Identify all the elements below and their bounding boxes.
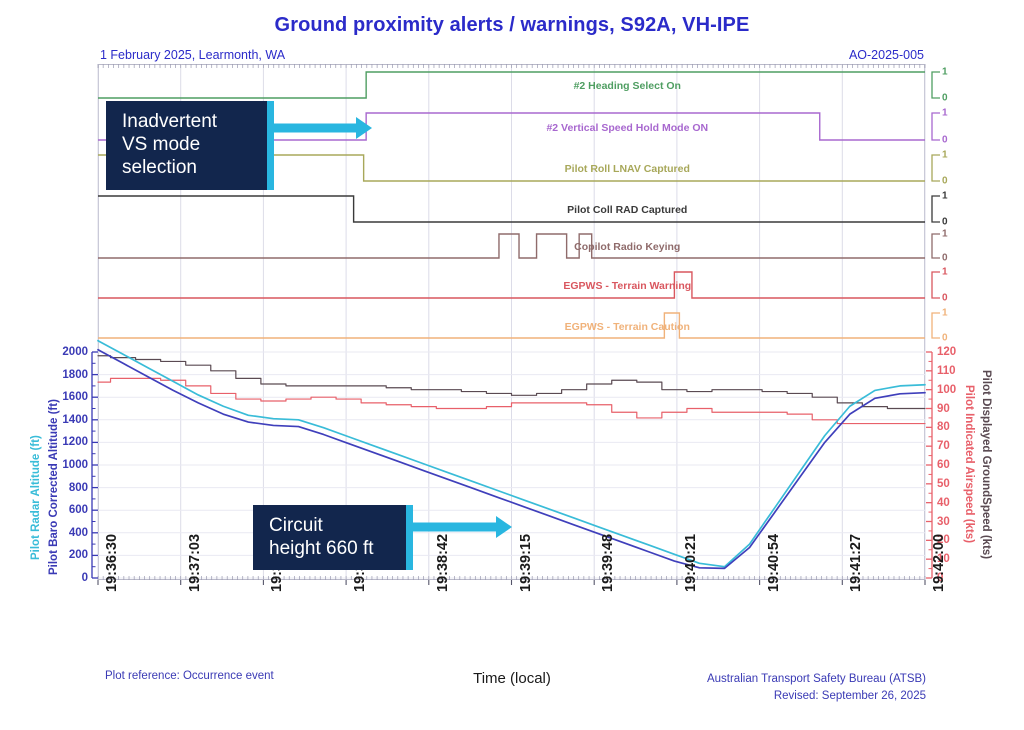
left-axis-title-radar-altitude: Pilot Radar Altitude (ft) xyxy=(30,435,42,560)
signal-label-5: EGPWS - Terrain Warning xyxy=(563,280,691,292)
signal-5-tick-1: 1 xyxy=(942,267,948,278)
vs-mode-callout-edge xyxy=(267,101,274,190)
x-axis-tick-7: 19:40:21 xyxy=(683,534,699,592)
x-axis-tick-5: 19:39:15 xyxy=(518,534,534,592)
signal-6-tick-0: 0 xyxy=(942,333,948,344)
signal-3-tick-0: 0 xyxy=(942,217,948,228)
left-axis-tick-200: 200 xyxy=(69,549,88,561)
vs-mode-arrow-head xyxy=(356,117,372,139)
signal-4-tick-0: 0 xyxy=(942,253,948,264)
right-axis-tick-40: 40 xyxy=(937,497,950,509)
left-axis-tick-2000: 2000 xyxy=(62,346,88,358)
right-axis-tick-110: 110 xyxy=(937,365,956,377)
signal-4-tick-1: 1 xyxy=(942,229,948,240)
signal-1-tick-1: 1 xyxy=(942,108,948,119)
left-axis-title-baro-altitude: Pilot Baro Corrected Altitude (ft) xyxy=(48,399,60,575)
right-axis-title-groundspeed: Pilot Displayed GroundSpeed (kts) xyxy=(980,370,992,559)
signal-6-tick-1: 1 xyxy=(942,308,948,319)
x-axis-tick-1: 19:37:03 xyxy=(187,534,203,592)
left-axis-tick-1000: 1000 xyxy=(62,459,88,471)
left-axis-tick-1200: 1200 xyxy=(62,436,88,448)
vs-mode-callout-line-2: VS mode xyxy=(122,133,260,156)
circuit-height-callout-edge xyxy=(406,505,413,570)
right-axis-tick-90: 90 xyxy=(937,403,950,415)
x-axis-tick-0: 19:36:30 xyxy=(104,534,120,592)
callout-arrows xyxy=(274,117,512,538)
left-axis-tick-1400: 1400 xyxy=(62,414,88,426)
circuit-height-callout-line-2: height 660 ft xyxy=(269,537,399,560)
right-axis-tick-50: 50 xyxy=(937,478,950,490)
vs-mode-callout-line-1: Inadvertent xyxy=(122,110,260,133)
signal-label-0: #2 Heading Select On xyxy=(574,80,681,92)
x-axis-tick-10: 19:42:00 xyxy=(931,534,947,592)
right-axis-tick-30: 30 xyxy=(937,516,950,528)
agency-credit: Australian Transport Safety Bureau (ATSB… xyxy=(707,671,926,704)
signal-0-tick-1: 1 xyxy=(942,67,948,78)
circuit-height-callout-line-1: Circuit xyxy=(269,514,399,537)
circuit-height-arrow-head xyxy=(496,516,512,538)
right-axis-tick-120: 120 xyxy=(937,346,956,358)
signal-label-6: EGPWS - Terrain Caution xyxy=(565,321,690,333)
signal-3-tick-1: 1 xyxy=(942,191,948,202)
left-axis-tick-400: 400 xyxy=(69,527,88,539)
left-axis-tick-800: 800 xyxy=(69,482,88,494)
left-axis-tick-1800: 1800 xyxy=(62,369,88,381)
signal-0-tick-0: 0 xyxy=(942,93,948,104)
right-axis-tick-60: 60 xyxy=(937,459,950,471)
right-axis-title-airspeed: Pilot Indicated Airspeed (kts) xyxy=(963,385,975,543)
signal-2-tick-0: 0 xyxy=(942,176,948,187)
signal-5-tick-0: 0 xyxy=(942,293,948,304)
signal-label-4: Copilot Radio Keying xyxy=(574,241,680,253)
circuit-height-callout: Circuit height 660 ft xyxy=(253,505,413,570)
vs-mode-callout: Inadvertent VS mode selection xyxy=(106,101,274,190)
x-axis-tick-8: 19:40:54 xyxy=(766,534,782,592)
right-axis-tick-100: 100 xyxy=(937,384,956,396)
left-axis xyxy=(92,352,98,578)
right-axis-tick-70: 70 xyxy=(937,440,950,452)
x-axis xyxy=(98,580,925,585)
vs-mode-callout-line-3: selection xyxy=(122,156,260,179)
right-axis-tick-80: 80 xyxy=(937,421,950,433)
signal-2-tick-1: 1 xyxy=(942,150,948,161)
x-axis-tick-6: 19:39:48 xyxy=(600,534,616,592)
signal-label-3: Pilot Coll RAD Captured xyxy=(567,204,687,216)
left-axis-tick-600: 600 xyxy=(69,504,88,516)
signal-1-tick-0: 0 xyxy=(942,135,948,146)
x-axis-tick-9: 19:41:27 xyxy=(848,534,864,592)
left-axis-tick-1600: 1600 xyxy=(62,391,88,403)
plot-reference-note: Plot reference: Occurrence event xyxy=(105,670,274,682)
signal-label-1: #2 Vertical Speed Hold Mode ON xyxy=(546,122,708,134)
left-axis-tick-0: 0 xyxy=(82,572,88,584)
revision-date: Revised: September 26, 2025 xyxy=(707,688,926,705)
discrete-axis-brackets xyxy=(932,72,940,338)
agency-name: Australian Transport Safety Bureau (ATSB… xyxy=(707,671,926,688)
signal-label-2: Pilot Roll LNAV Captured xyxy=(565,163,690,175)
x-axis-tick-4: 19:38:42 xyxy=(435,534,451,592)
